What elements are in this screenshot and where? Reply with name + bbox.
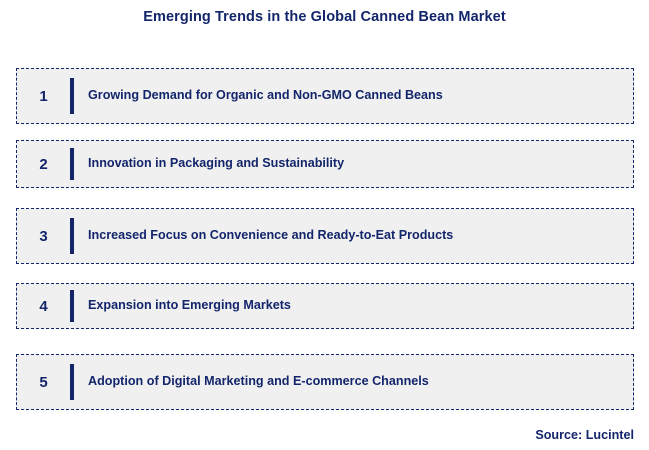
- trend-label: Growing Demand for Organic and Non-GMO C…: [74, 88, 633, 103]
- infographic-canvas: Emerging Trends in the Global Canned Bea…: [0, 0, 649, 450]
- trend-label: Innovation in Packaging and Sustainabili…: [74, 156, 633, 171]
- trend-number: 2: [17, 157, 70, 172]
- list-item[interactable]: 2 Innovation in Packaging and Sustainabi…: [16, 140, 634, 188]
- trend-number: 4: [17, 299, 70, 314]
- list-item[interactable]: 4 Expansion into Emerging Markets: [16, 283, 634, 329]
- page-title: Emerging Trends in the Global Canned Bea…: [0, 9, 649, 25]
- list-item[interactable]: 3 Increased Focus on Convenience and Rea…: [16, 208, 634, 264]
- list-item[interactable]: 5 Adoption of Digital Marketing and E-co…: [16, 354, 634, 410]
- trend-label: Adoption of Digital Marketing and E-comm…: [74, 374, 633, 389]
- source-label: Source: Lucintel: [535, 428, 634, 442]
- list-item[interactable]: 1 Growing Demand for Organic and Non-GMO…: [16, 68, 634, 124]
- trend-number: 1: [17, 89, 70, 104]
- trend-label: Increased Focus on Convenience and Ready…: [74, 228, 633, 243]
- trend-number: 5: [17, 375, 70, 390]
- trend-label: Expansion into Emerging Markets: [74, 298, 633, 313]
- trend-number: 3: [17, 229, 70, 244]
